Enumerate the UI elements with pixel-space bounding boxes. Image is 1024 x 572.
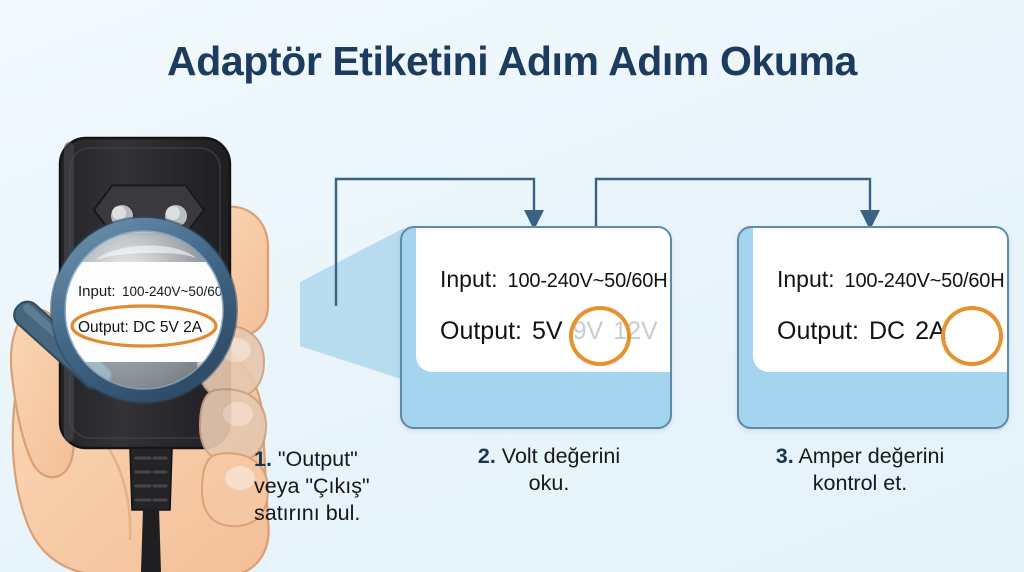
- page-title: Adaptör Etiketini Adım Adım Okuma: [0, 38, 1024, 85]
- card-2-label-panel: Input:100-240V~50/60H Output:5V9V12V: [416, 228, 672, 372]
- caption-3-number: 3.: [776, 444, 794, 468]
- highlight-circle-2a: [941, 306, 1003, 366]
- card-3-output-dc: DC: [869, 317, 905, 345]
- card-3-output-line: Output:DC2A: [777, 317, 946, 346]
- caption-2-line-2: oku.: [529, 471, 570, 495]
- caption-step-2: 2. Volt değerini oku.: [434, 443, 664, 497]
- caption-1-number: 1.: [254, 447, 272, 471]
- lens-input-line: Input:: [78, 283, 116, 300]
- caption-3-line-2: kontrol et.: [813, 471, 907, 495]
- caption-1-line-1: "Output": [272, 447, 358, 471]
- card-3-label-panel: Input:100-240V~50/60H Output:DC2A: [753, 228, 1009, 372]
- card-3-output-key: Output:: [777, 317, 859, 345]
- caption-1-line-3: satırını bul.: [254, 501, 360, 525]
- caption-1-line-2: veya "Çıkış": [254, 474, 370, 498]
- lens-output-line: Output: DC 5V 2A: [78, 319, 203, 336]
- caption-step-1: 1. "Output" veya "Çıkış" satırını bul.: [232, 446, 444, 527]
- step-2-card[interactable]: Input:100-240V~50/60H Output:5V9V12V: [400, 226, 672, 429]
- caption-3-line-1: Amper değerini: [794, 444, 945, 468]
- card-3-input-line: Input:100-240V~50/60H: [777, 266, 1004, 293]
- infographic-canvas: Adaptör Etiketini Adım Adım Okuma: [0, 0, 1024, 572]
- card-2-input-key: Input:: [440, 266, 498, 292]
- arrow-down-icon: [596, 179, 870, 226]
- step-3-card[interactable]: Input:100-240V~50/60H Output:DC2A: [737, 226, 1009, 429]
- card-2-output-5v: 5V: [532, 317, 563, 345]
- card-3-input-key: Input:: [777, 266, 835, 292]
- card-2-input-value: 100-240V~50/60H: [508, 270, 668, 292]
- caption-2-line-1: Volt değerini: [496, 444, 620, 468]
- caption-step-3: 3. Amper değerini kontrol et.: [740, 443, 980, 497]
- caption-2-number: 2.: [478, 444, 496, 468]
- highlight-circle-5v: [569, 306, 631, 366]
- card-2-input-line: Input:100-240V~50/60H: [440, 266, 667, 293]
- card-2-output-key: Output:: [440, 317, 522, 345]
- card-3-input-value: 100-240V~50/60H: [845, 270, 1005, 292]
